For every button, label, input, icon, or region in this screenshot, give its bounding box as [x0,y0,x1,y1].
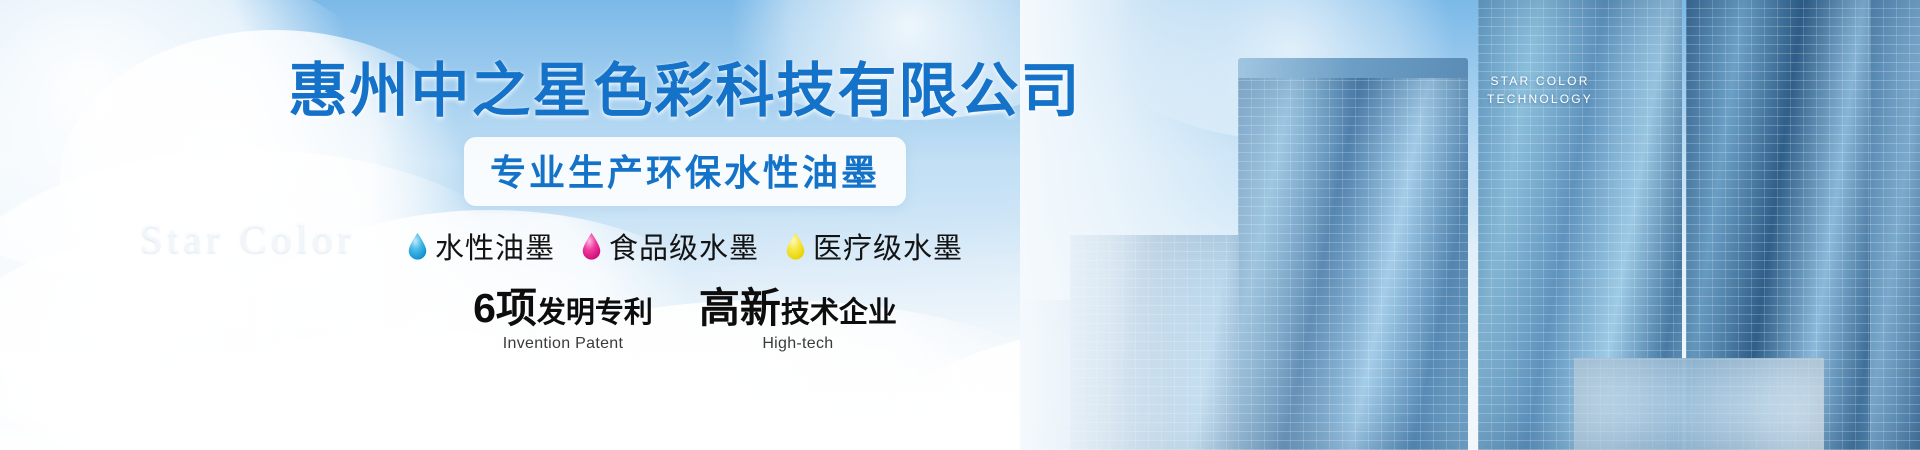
building-foreground-block [1574,358,1824,450]
promo-banner: Star Color STAR COLOR TECHNOLOGY 惠州中之星色彩… [0,0,1920,450]
badge-subtext: 发明专利 [537,297,653,329]
badge-english-text: High-tech [699,335,897,353]
badge-highlight: 6项 [473,285,537,331]
badge-subtext: 技术企业 [781,297,897,329]
subtitle-pill-wrapper: 专业生产环保水性油墨 [0,137,1370,206]
product-item-medical-grade-ink: 医疗级水墨 [785,225,963,267]
brand-english-label: STAR COLOR TECHNOLOGY [1470,72,1610,108]
product-item-food-grade-ink: 食品级水墨 [581,225,759,267]
badge-chinese-text: 6项发明专利 [473,288,653,329]
credentials-list: 6项发明专利 Invention Patent 高新技术企业 High-tech [0,288,1370,353]
product-label: 医疗级水墨 [813,225,963,267]
badge-invention-patent: 6项发明专利 Invention Patent [473,288,653,353]
product-label: 食品级水墨 [609,225,759,267]
banner-content: 惠州中之星色彩科技有限公司 专业生产环保水性油墨 水性油墨 [0,0,1370,450]
badge-highlight: 高新 [699,285,781,331]
water-drop-icon [785,232,806,261]
badge-chinese-text: 高新技术企业 [699,288,897,329]
water-drop-icon [407,232,428,261]
building-edge-sliver [1870,0,1920,450]
product-list: 水性油墨 食品级水墨 [0,225,1370,267]
product-item-water-ink: 水性油墨 [407,225,555,267]
subtitle-pill: 专业生产环保水性油墨 [464,137,906,206]
water-drop-icon [581,232,602,261]
company-title: 惠州中之星色彩科技有限公司 [0,0,1370,124]
product-label: 水性油墨 [435,225,555,267]
brand-english-line-1: STAR COLOR [1470,72,1610,90]
badge-high-tech-enterprise: 高新技术企业 High-tech [699,288,897,353]
badge-english-text: Invention Patent [473,335,653,353]
brand-english-line-2: TECHNOLOGY [1470,90,1610,108]
